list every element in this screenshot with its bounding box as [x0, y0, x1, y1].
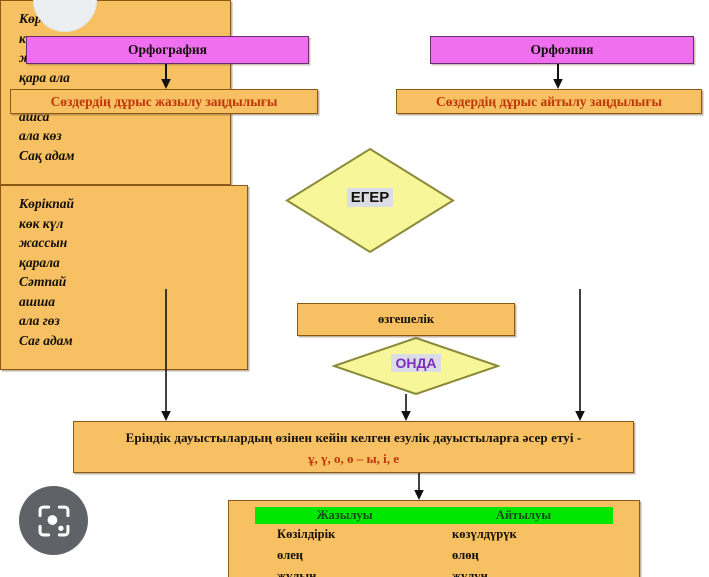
screenshot-canvas: Орфография Сөздердің дұрыс жазылу заңдыл… — [0, 0, 709, 577]
conclusion-box: Еріндік дауыстылардың өзінен кейін келге… — [73, 421, 634, 473]
onda-label: ОНДА — [391, 354, 440, 372]
right-subtitle-label: Сөздердің дұрыс айтылу заңдылығы — [436, 94, 662, 110]
table-header-row: Жазылуы Айтылуы — [255, 507, 613, 524]
table-cell-written: өлең — [255, 548, 434, 563]
list-item: Сағ адам — [19, 331, 247, 351]
list-item: қарала — [19, 253, 247, 273]
right-title-box: Орфоэпия — [430, 36, 694, 64]
table-header-cell-spoken: Айтылуы — [434, 508, 613, 523]
list-item: көк күл — [19, 214, 247, 234]
conclusion-line-2: ұ, ү, о, ө – ы, і, е — [308, 451, 399, 467]
table-cell-spoken: жұлұн — [434, 569, 613, 577]
google-lens-button[interactable] — [19, 486, 88, 555]
table-cell-written: Көзілдірік — [255, 527, 434, 542]
list-item: Сәтпай — [19, 272, 247, 292]
ozgeshelik-label: өзгешелік — [378, 312, 434, 327]
left-title-label: Орфография — [128, 42, 207, 58]
table-cell-written: жұлын — [255, 569, 434, 577]
right-word-list: Көрікпай көк күл жассын қарала Сәтпай аш… — [0, 185, 248, 370]
conclusion-line-1: Еріндік дауыстылардың өзінен кейін келге… — [126, 430, 582, 446]
table-cell-spoken: өлөң — [434, 548, 613, 563]
arrow-right-list-to-conclusion — [573, 289, 587, 422]
arrow-left-title-to-subtitle — [159, 64, 173, 90]
arrow-onda-to-conclusion — [399, 394, 413, 422]
onda-decision-diamond: ОНДА — [332, 337, 500, 395]
table-row: Көзілдірік көзүлдүрүк — [255, 524, 613, 545]
table-header-cell-written: Жазылуы — [255, 508, 434, 523]
right-subtitle-box: Сөздердің дұрыс айтылу заңдылығы — [396, 89, 702, 114]
list-item: қара ала — [19, 68, 230, 88]
arrow-conclusion-to-table — [412, 473, 426, 501]
examples-table: Жазылуы Айтылуы Көзілдірік көзүлдүрүк өл… — [228, 500, 640, 577]
left-title-box: Орфография — [26, 36, 309, 64]
list-item: Сақ адам — [19, 146, 230, 166]
list-item: ала гөз — [19, 311, 247, 331]
ozgeshelik-box: өзгешелік — [297, 303, 515, 336]
eger-label-wrap: ЕГЕР — [285, 189, 455, 206]
left-subtitle-label: Сөздердің дұрыс жазылу заңдылығы — [51, 94, 278, 110]
right-title-label: Орфоэпия — [531, 42, 594, 58]
left-subtitle-box: Сөздердің дұрыс жазылу заңдылығы — [10, 89, 318, 114]
list-item: жассын — [19, 233, 247, 253]
arrow-left-list-to-conclusion — [159, 289, 173, 422]
eger-label: ЕГЕР — [347, 188, 394, 207]
google-lens-icon — [35, 502, 73, 540]
arrow-right-title-to-subtitle — [551, 64, 565, 90]
list-item: ашша — [19, 292, 247, 312]
onda-label-wrap: ОНДА — [332, 355, 500, 371]
list-item: Көрікпай — [19, 194, 247, 214]
list-item: ала көз — [19, 126, 230, 146]
table-row: жұлын жұлұн — [255, 566, 613, 577]
eger-decision-diamond: ЕГЕР — [285, 147, 455, 254]
table-row: өлең өлөң — [255, 545, 613, 566]
table-cell-spoken: көзүлдүрүк — [434, 527, 613, 542]
